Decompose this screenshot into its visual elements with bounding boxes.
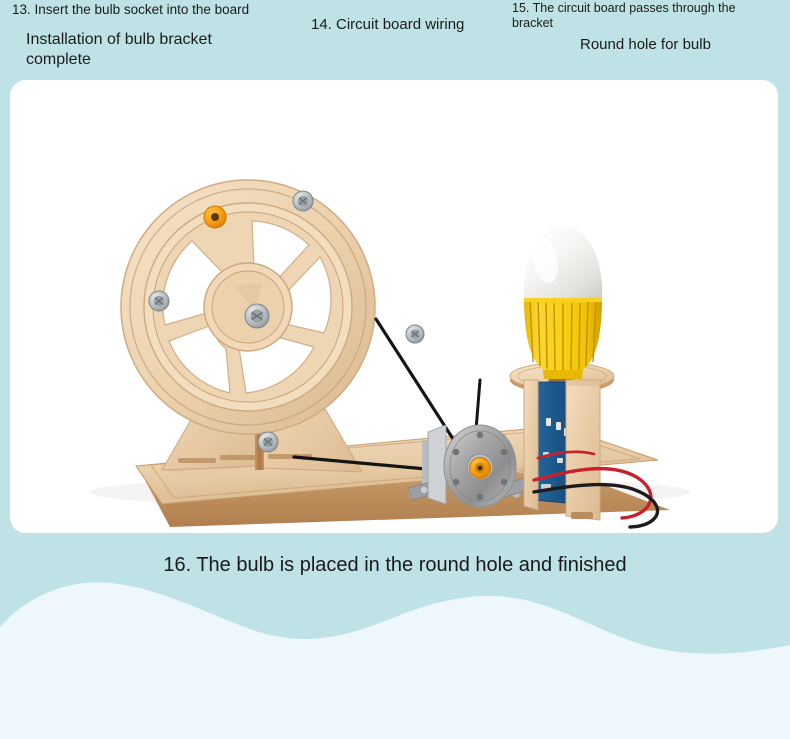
bulb-bracket-assembly [510,363,614,520]
rim-screw-left [149,291,169,311]
rim-screw-top [293,191,313,211]
caption-round-hole: Round hole for bulb [580,36,790,54]
product-photo-card [10,80,778,533]
orange-motor-pulley [470,458,491,479]
generator-kit-illustration [10,80,778,533]
rim-screw-right [406,325,424,343]
rim-screw-bottom [258,432,278,452]
orange-crank-knob[interactable] [204,206,226,228]
caption-step-13: 13. Insert the bulb socket into the boar… [12,2,302,18]
caption-step-16: 16. The bulb is placed in the round hole… [0,553,790,577]
page-root: 13. Insert the bulb socket into the boar… [0,0,790,739]
led-bulb [524,226,602,379]
bottom-wave-decoration [0,559,790,739]
caption-step-14: 14. Circuit board wiring [311,16,511,34]
caption-step-15: 15. The circuit board passes through the… [512,1,770,32]
product-photo [10,80,778,533]
hub-screw [245,304,269,328]
caption-install-complete: Installation of bulb bracket complete [26,30,276,69]
